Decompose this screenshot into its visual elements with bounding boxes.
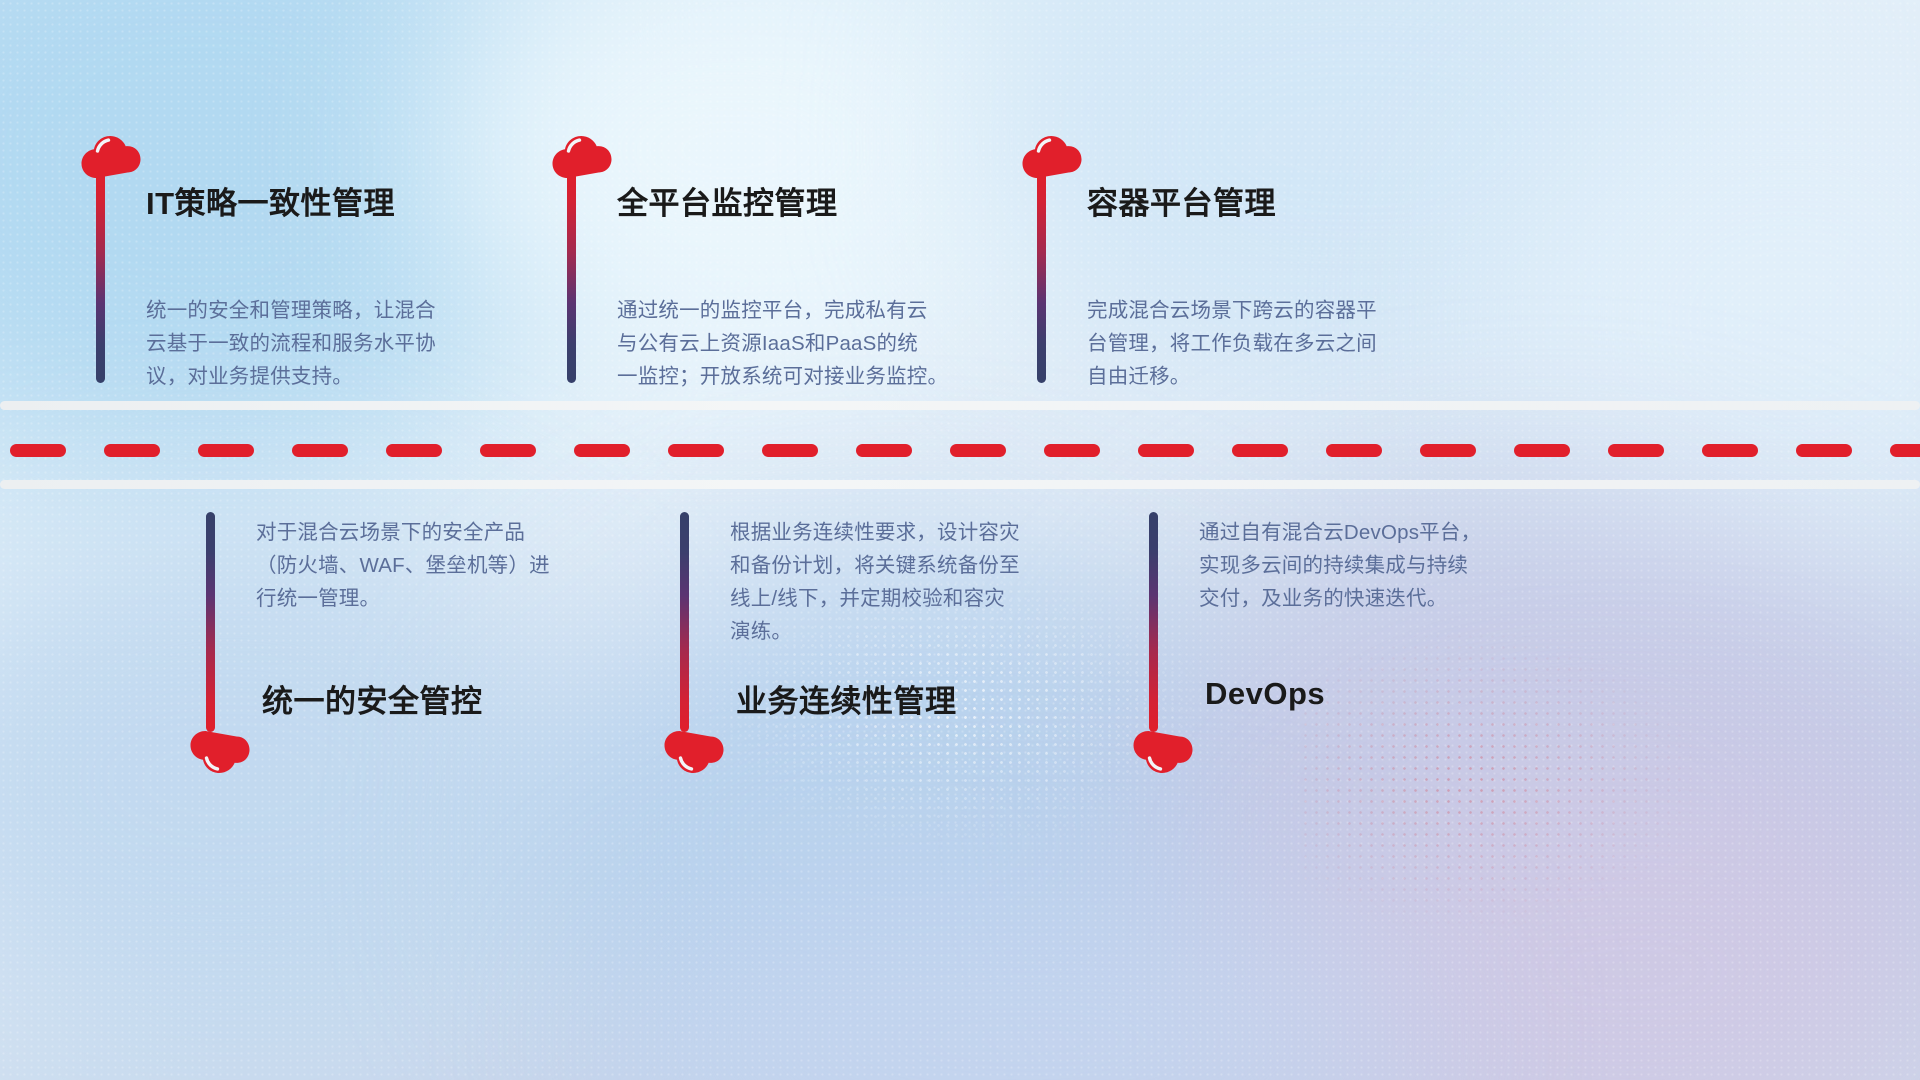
dash-segment — [1514, 444, 1570, 457]
feature-description: 根据业务连续性要求，设计容灾 和备份计划，将关键系统备份至 线上/线下，并定期校… — [730, 516, 1020, 648]
cloud-icon — [80, 131, 142, 179]
dash-segment — [1420, 444, 1476, 457]
connector-stem — [680, 512, 689, 732]
background-dot-cluster-red — [1300, 620, 1720, 940]
description-line: 台管理，将工作负载在多云之间 — [1087, 327, 1377, 360]
description-line: 交付，及业务的快速迭代。 — [1199, 582, 1481, 615]
dash-segment — [1702, 444, 1758, 457]
feature-title: 全平台监控管理 — [617, 178, 838, 223]
description-line: 实现多云间的持续集成与持续 — [1199, 549, 1481, 582]
feature-description: 统一的安全和管理策略，让混合 云基于一致的流程和服务水平协 议，对业务提供支持。 — [146, 294, 436, 393]
feature-description: 通过统一的监控平台，完成私有云 与公有云上资源IaaS和PaaS的统 一监控；开… — [617, 294, 948, 393]
feature-title: 业务连续性管理 — [736, 676, 957, 721]
description-line: 和备份计划，将关键系统备份至 — [730, 549, 1020, 582]
dash-segment — [856, 444, 912, 457]
description-line: 完成混合云场景下跨云的容器平 — [1087, 294, 1377, 327]
description-line: 云基于一致的流程和服务水平协 — [146, 327, 436, 360]
dash-segment — [1138, 444, 1194, 457]
connector-stem — [567, 172, 576, 383]
description-line: 线上/线下，并定期校验和容灾 — [730, 582, 1020, 615]
cloud-icon-flipped — [663, 730, 725, 778]
description-line: 演练。 — [730, 615, 1020, 648]
dash-segment — [1232, 444, 1288, 457]
description-line: 根据业务连续性要求，设计容灾 — [730, 516, 1020, 549]
feature-description: 通过自有混合云DevOps平台， 实现多云间的持续集成与持续 交付，及业务的快速… — [1199, 516, 1481, 615]
feature-title: IT策略一致性管理 — [146, 178, 395, 223]
cloud-icon-flipped — [189, 730, 251, 778]
dash-segment — [1890, 444, 1920, 457]
description-line: 一监控；开放系统可对接业务监控。 — [617, 360, 948, 393]
divider-dashed-red — [0, 444, 1920, 457]
feature-title: 容器平台管理 — [1087, 178, 1276, 223]
connector-stem — [96, 172, 105, 383]
description-line: 行统一管理。 — [256, 582, 550, 615]
description-line: 通过统一的监控平台，完成私有云 — [617, 294, 948, 327]
dash-segment — [292, 444, 348, 457]
dash-segment — [386, 444, 442, 457]
dash-segment — [574, 444, 630, 457]
feature-description: 完成混合云场景下跨云的容器平 台管理，将工作负载在多云之间 自由迁移。 — [1087, 294, 1377, 393]
infographic-stage: IT策略一致性管理 统一的安全和管理策略，让混合 云基于一致的流程和服务水平协 … — [0, 0, 1920, 1080]
connector-stem — [206, 512, 215, 732]
feature-title: 统一的安全管控 — [262, 676, 483, 721]
dash-segment — [668, 444, 724, 457]
dash-segment — [1326, 444, 1382, 457]
cloud-icon — [1021, 131, 1083, 179]
dash-segment — [10, 444, 66, 457]
connector-stem — [1037, 172, 1046, 383]
description-line: 自由迁移。 — [1087, 360, 1377, 393]
description-line: 议，对业务提供支持。 — [146, 360, 436, 393]
description-line: 统一的安全和管理策略，让混合 — [146, 294, 436, 327]
description-line: 与公有云上资源IaaS和PaaS的统 — [617, 327, 948, 360]
divider-line-top — [0, 401, 1920, 410]
dash-segment — [1608, 444, 1664, 457]
dash-segment — [104, 444, 160, 457]
connector-stem — [1149, 512, 1158, 732]
cloud-icon-flipped — [1132, 730, 1194, 778]
divider-line-bottom — [0, 480, 1920, 489]
cloud-icon — [551, 131, 613, 179]
description-line: （防火墙、WAF、堡垒机等）进 — [256, 549, 550, 582]
description-line: 对于混合云场景下的安全产品 — [256, 516, 550, 549]
description-line: 通过自有混合云DevOps平台， — [1199, 516, 1481, 549]
dash-segment — [480, 444, 536, 457]
feature-description: 对于混合云场景下的安全产品 （防火墙、WAF、堡垒机等）进 行统一管理。 — [256, 516, 550, 615]
dash-segment — [1044, 444, 1100, 457]
dash-segment — [950, 444, 1006, 457]
feature-title: DevOps — [1205, 676, 1325, 712]
dash-segment — [762, 444, 818, 457]
dash-segment — [1796, 444, 1852, 457]
dash-segment — [198, 444, 254, 457]
